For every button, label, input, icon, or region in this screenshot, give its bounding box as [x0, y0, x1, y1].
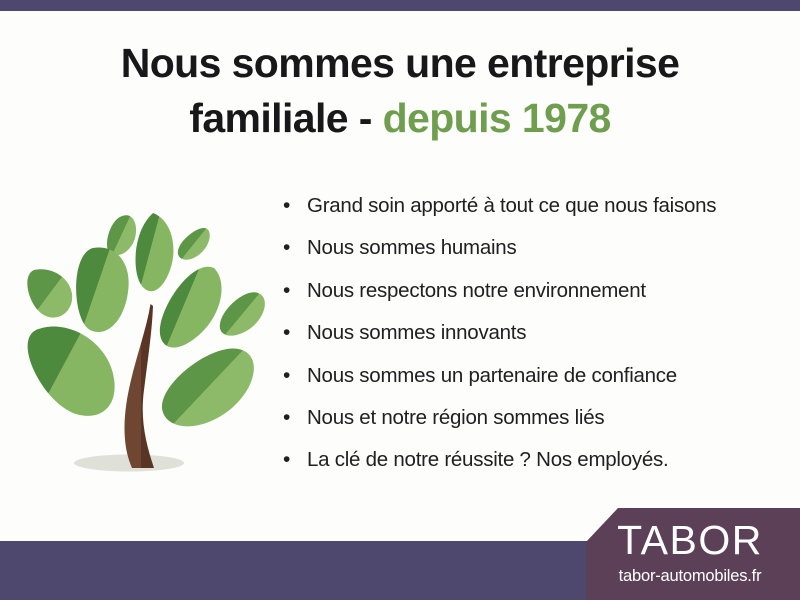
list-item-label: Nous sommes humains [307, 234, 516, 261]
bullet-dot-icon: • [283, 319, 307, 346]
tree-icon [22, 182, 272, 492]
list-item: • Nous sommes innovants [283, 319, 783, 361]
headline-line-1: Nous sommes une entreprise [121, 40, 680, 86]
tree-trunk [125, 304, 154, 468]
list-item: • Nous sommes un partenaire de confiance [283, 362, 783, 404]
tree-leaves [27, 213, 265, 426]
brand-wordmark: TABOR [586, 520, 794, 561]
bullet-dot-icon: • [283, 192, 307, 219]
brand-logo-panel[interactable]: TABOR tabor-automobiles.fr [586, 508, 800, 600]
list-item: • Nous sommes humains [283, 234, 783, 276]
top-accent-bar [0, 0, 800, 11]
list-item: • Grand soin apporté à tout ce que nous … [283, 192, 783, 234]
value-list: • Grand soin apporté à tout ce que nous … [283, 192, 783, 489]
list-item: • La clé de notre réussite ? Nos employé… [283, 446, 783, 488]
list-item-label: Nous sommes innovants [307, 319, 526, 346]
list-item-label: Grand soin apporté à tout ce que nous fa… [307, 192, 716, 219]
headline-line-2-plain: familiale - [189, 95, 382, 141]
page-title: Nous sommes une entreprise familiale - d… [60, 36, 740, 145]
bullet-dot-icon: • [283, 234, 307, 261]
list-item-label: Nous respectons notre environnement [307, 277, 646, 304]
list-item-label: La clé de notre réussite ? Nos employés. [307, 446, 668, 473]
list-item-label: Nous sommes un partenaire de confiance [307, 362, 677, 389]
tree-illustration [22, 182, 272, 492]
bullet-dot-icon: • [283, 446, 307, 473]
bullet-dot-icon: • [283, 404, 307, 431]
bullet-dot-icon: • [283, 362, 307, 389]
bullet-dot-icon: • [283, 277, 307, 304]
brand-website-url: tabor-automobiles.fr [586, 568, 794, 585]
slide-canvas: Nous sommes une entreprise familiale - d… [0, 0, 800, 600]
headline-line-2-accent: depuis 1978 [383, 95, 611, 141]
list-item: • Nous et notre région sommes liés [283, 404, 783, 446]
list-item-label: Nous et notre région sommes liés [307, 404, 604, 431]
list-item: • Nous respectons notre environnement [283, 277, 783, 319]
